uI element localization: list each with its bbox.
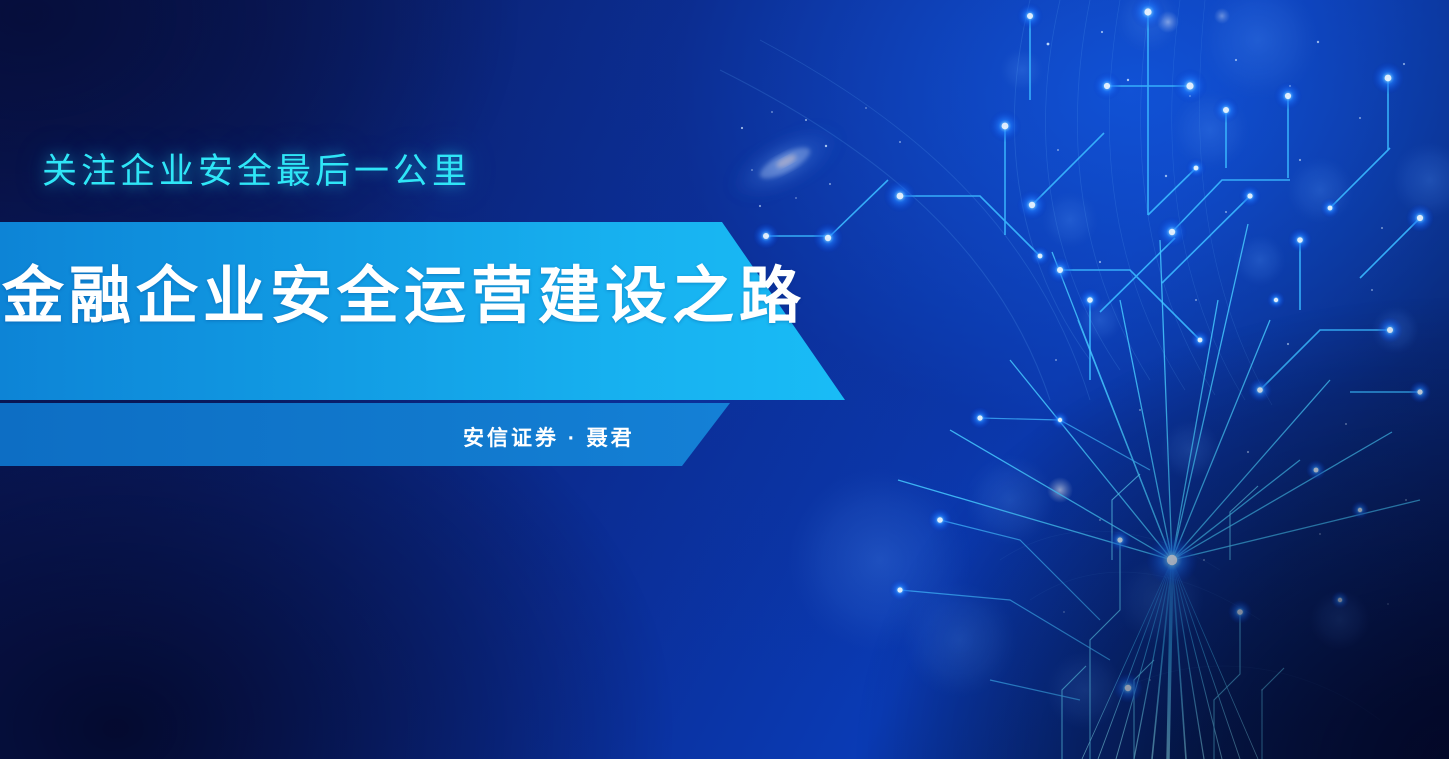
slide-title: 金融企业安全运营建设之路 xyxy=(2,266,806,328)
title-banner-group xyxy=(0,200,900,490)
banner-shapes xyxy=(0,200,900,490)
slide-author: 安信证券 · 聂君 xyxy=(463,422,635,452)
presentation-slide: 关注企业安全最后一公里 金融企业安全运营建设之路 安信证券 · 聂君 xyxy=(0,0,1449,759)
slide-subtitle: 关注企业安全最后一公里 xyxy=(42,143,471,194)
